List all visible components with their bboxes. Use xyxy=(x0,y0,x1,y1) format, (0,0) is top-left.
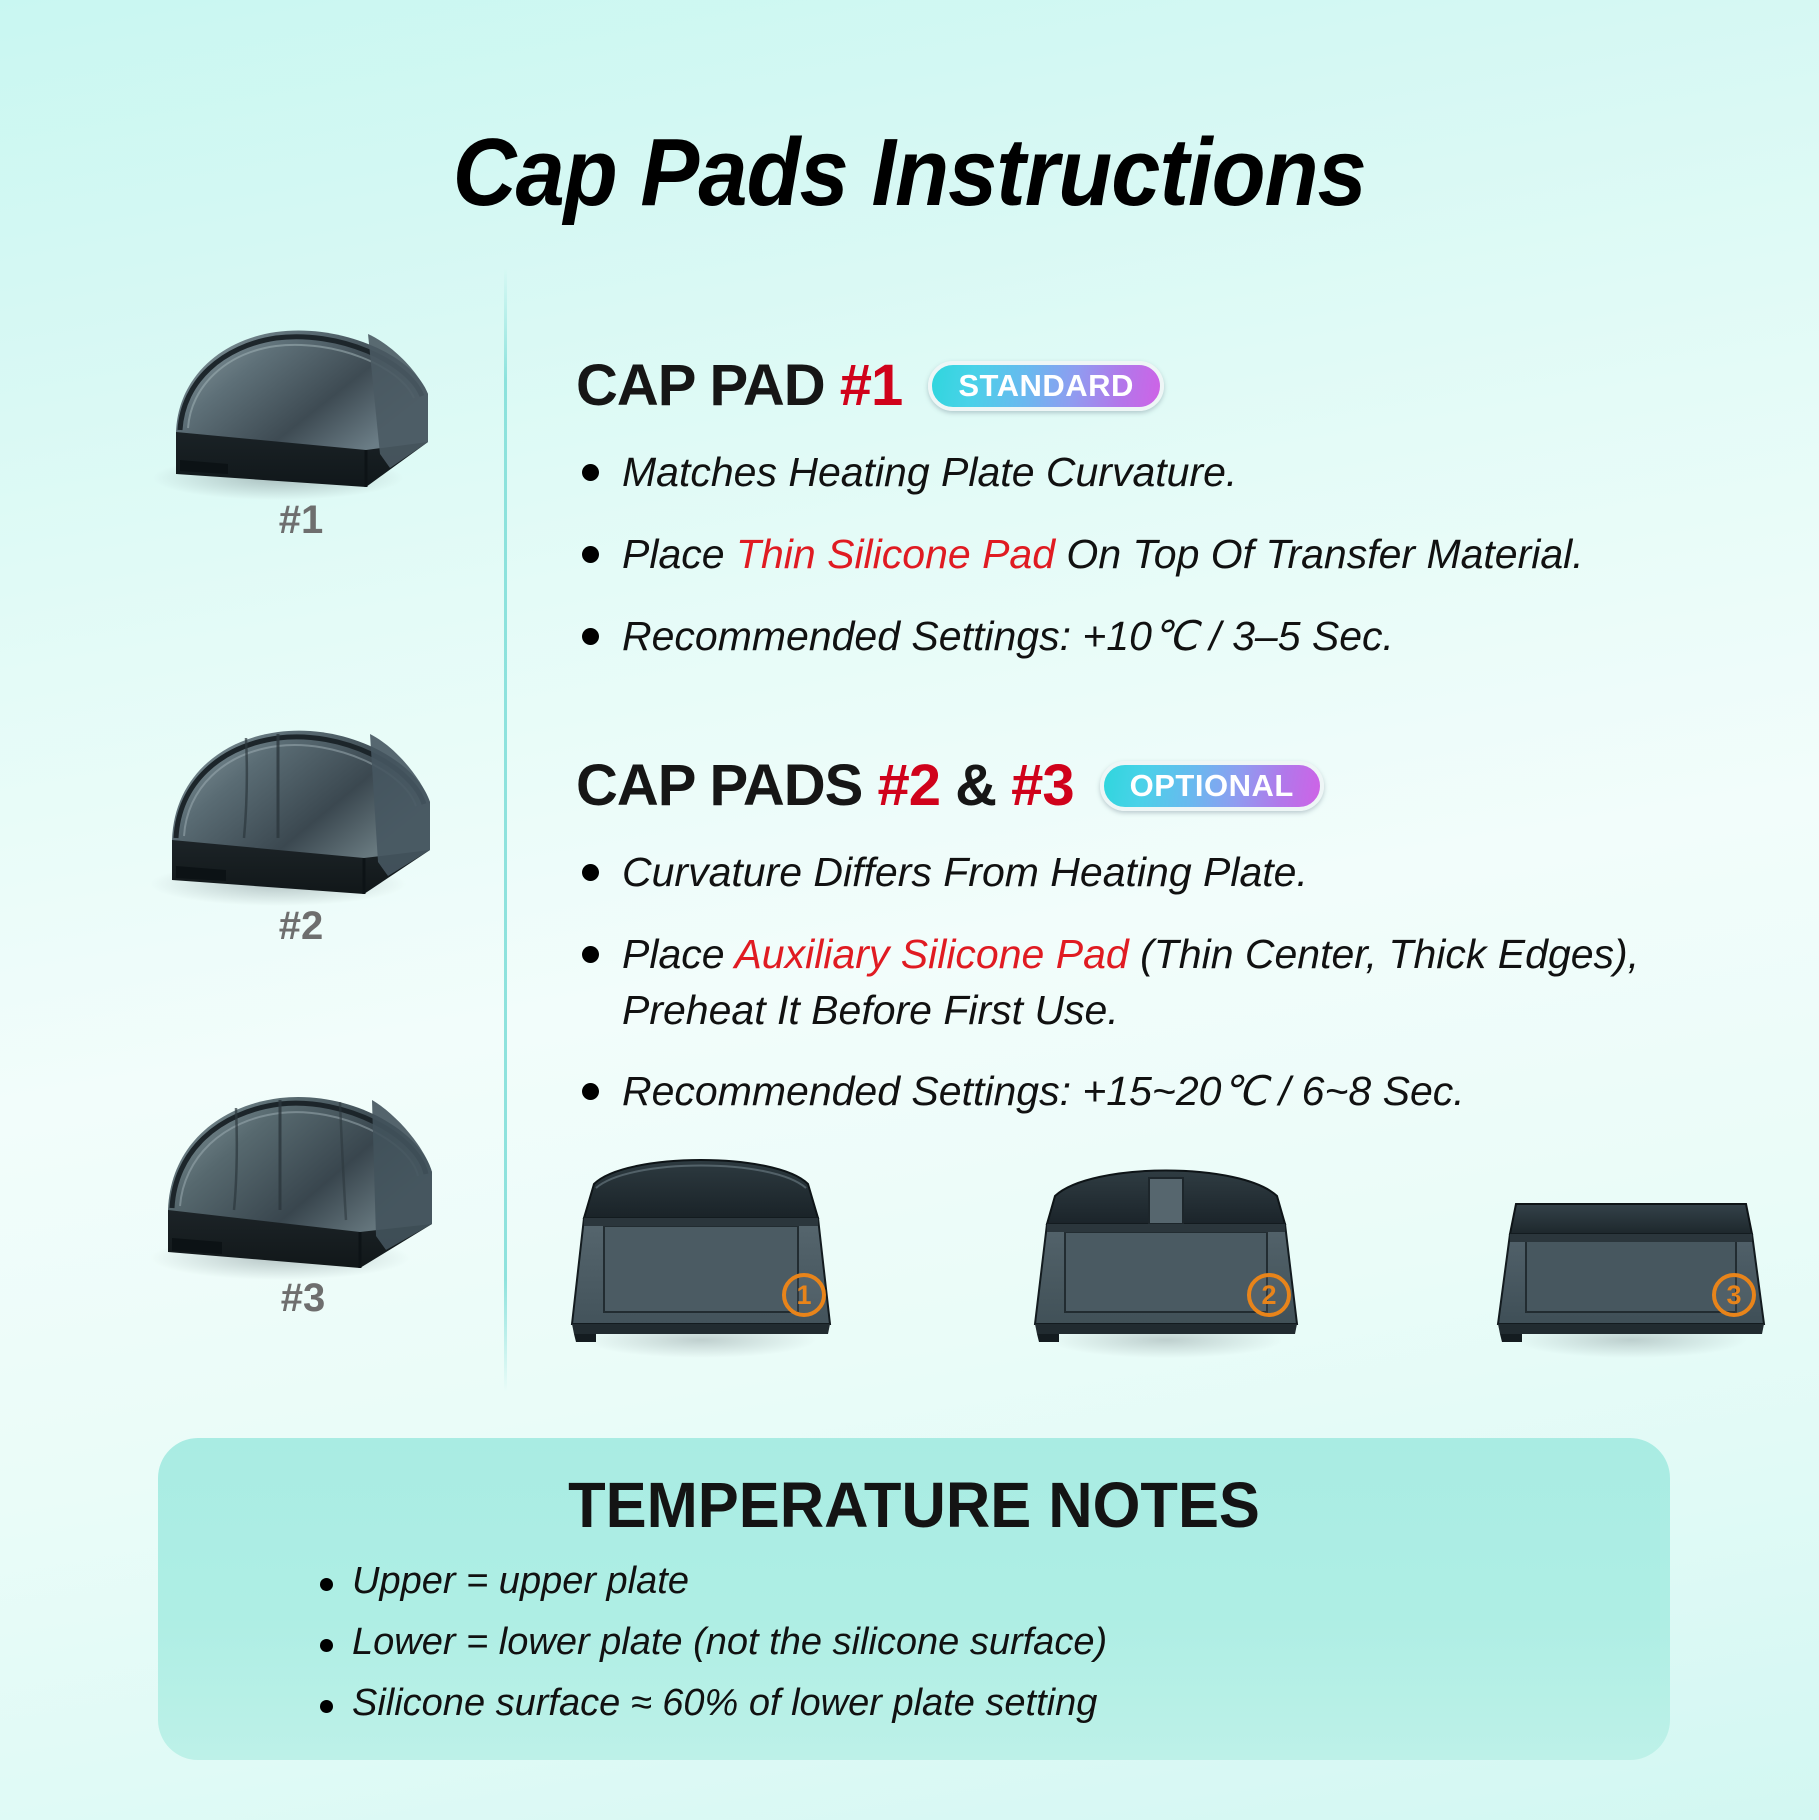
cap-pad-figure-3: #3 xyxy=(128,1060,458,1321)
cap-pad-figure-2: #2 xyxy=(128,688,458,949)
list-item: Place Thin Silicone Pad On Top Of Transf… xyxy=(576,527,1756,583)
section-1-title-main: CAP PAD xyxy=(576,353,840,418)
list-item: Curvature Differs From Heating Plate. xyxy=(576,845,1756,901)
temperature-notes-title: TEMPERATURE NOTES xyxy=(188,1468,1640,1542)
cap-pad-label-1: #1 xyxy=(144,498,458,543)
cap-pad-label-3: #3 xyxy=(148,1276,458,1321)
front-view-number-2: 2 xyxy=(1247,1273,1291,1317)
section-1-title-number: #1 xyxy=(840,353,903,418)
section-1-bullet-list: Matches Heating Plate Curvature. Place T… xyxy=(576,445,1756,664)
cap-pad-front-view-icon xyxy=(1486,1148,1776,1363)
bullet-text: Place xyxy=(622,931,734,977)
section-2-title-number-2: #3 xyxy=(1011,753,1074,818)
temperature-notes-list: Upper = upper plate Lower = lower plate … xyxy=(158,1560,1670,1725)
section-2-bullet-list: Curvature Differs From Heating Plate. Pl… xyxy=(576,845,1756,1120)
front-view-3: 3 xyxy=(1486,1148,1776,1363)
section-2-title-main: CAP PADS xyxy=(576,753,877,818)
section-cap-pad-1: CAP PAD #1 STANDARD Matches Heating Plat… xyxy=(576,352,1756,690)
bullet-dot-icon xyxy=(320,1639,333,1652)
list-item: Upper = upper plate xyxy=(318,1560,1670,1603)
bullet-text-highlight: Auxiliary Silicone Pad xyxy=(734,931,1128,977)
bullet-dot-icon xyxy=(582,946,599,963)
front-view-number-1: 1 xyxy=(782,1273,826,1317)
badge-optional: OPTIONAL xyxy=(1100,761,1324,811)
list-item: Place Auxiliary Silicone Pad (Thin Cente… xyxy=(576,927,1756,1039)
note-text: Upper = upper plate xyxy=(352,1560,689,1602)
cap-pad-front-view-icon xyxy=(1021,1148,1311,1363)
front-view-1: 1 xyxy=(556,1148,846,1363)
list-item: Recommended Settings: +15~20℃ / 6~8 Sec. xyxy=(576,1064,1756,1120)
section-1-title: CAP PAD #1 xyxy=(576,352,902,419)
section-2-title-number-1: #2 xyxy=(877,753,940,818)
list-item: Recommended Settings: +10℃ / 3–5 Sec. xyxy=(576,609,1756,665)
bullet-text: Recommended Settings: +10℃ / 3–5 Sec. xyxy=(622,613,1394,659)
bullet-dot-icon xyxy=(582,1083,599,1100)
page-title: Cap Pads Instructions xyxy=(453,118,1366,228)
note-text: Silicone surface ≈ 60% of lower plate se… xyxy=(352,1682,1097,1724)
front-view-row: 1 xyxy=(556,1148,1776,1363)
page-title-wrapper: Cap Pads Instructions xyxy=(0,118,1819,228)
bullet-text: Place xyxy=(622,531,736,577)
list-item: Silicone surface ≈ 60% of lower plate se… xyxy=(318,1682,1670,1725)
bullet-dot-icon xyxy=(582,464,599,481)
list-item: Lower = lower plate (not the silicone su… xyxy=(318,1621,1670,1664)
cap-pad-figure-1: #1 xyxy=(128,282,458,543)
cap-pad-3d-icon xyxy=(128,282,458,502)
bullet-text: On Top Of Transfer Material. xyxy=(1055,531,1584,577)
cap-pad-label-2: #2 xyxy=(144,904,458,949)
bullet-text: Recommended Settings: +15~20℃ / 6~8 Sec. xyxy=(622,1068,1465,1114)
section-2-title-amp: & xyxy=(940,753,1011,818)
bullet-dot-icon xyxy=(320,1700,333,1713)
instruction-poster: Cap Pads Instructions xyxy=(0,0,1819,1820)
front-view-2: 2 xyxy=(1021,1148,1311,1363)
section-2-header: CAP PADS #2 & #3 OPTIONAL xyxy=(576,752,1756,819)
section-cap-pads-2-3: CAP PADS #2 & #3 OPTIONAL Curvature Diff… xyxy=(576,752,1756,1146)
bullet-dot-icon xyxy=(582,628,599,645)
note-text: Lower = lower plate (not the silicone su… xyxy=(352,1621,1107,1663)
section-2-title: CAP PADS #2 & #3 xyxy=(576,752,1074,819)
cap-pad-front-view-icon xyxy=(556,1148,846,1363)
vertical-divider xyxy=(504,268,507,1392)
bullet-text: Curvature Differs From Heating Plate. xyxy=(622,849,1308,895)
cap-pad-3d-icon xyxy=(128,1060,458,1280)
temperature-notes-panel: TEMPERATURE NOTES Upper = upper plate Lo… xyxy=(158,1438,1670,1760)
front-view-number-3: 3 xyxy=(1712,1273,1756,1317)
bullet-dot-icon xyxy=(582,864,599,881)
bullet-dot-icon xyxy=(582,546,599,563)
bullet-text: Matches Heating Plate Curvature. xyxy=(622,449,1237,495)
list-item: Matches Heating Plate Curvature. xyxy=(576,445,1756,501)
cap-pad-3d-icon xyxy=(128,688,458,908)
bullet-dot-icon xyxy=(320,1578,333,1591)
badge-standard: STANDARD xyxy=(928,361,1164,411)
bullet-text-highlight: Thin Silicone Pad xyxy=(736,531,1055,577)
section-1-header: CAP PAD #1 STANDARD xyxy=(576,352,1756,419)
